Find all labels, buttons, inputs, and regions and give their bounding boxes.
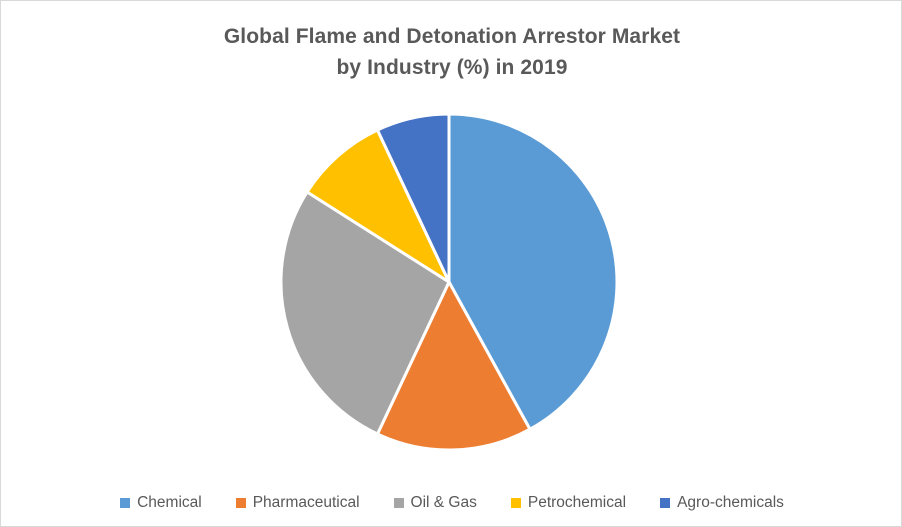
pie-chart-plot-area [1,1,902,471]
legend-item-petrochemical[interactable]: Petrochemical [511,494,626,512]
legend-swatch-oil-gas [394,498,404,508]
pie-chart-svg [1,1,902,471]
legend-label-chemical: Chemical [137,494,202,512]
legend-item-agro-chemicals[interactable]: Agro-chemicals [660,494,784,512]
legend-label-pharmaceutical: Pharmaceutical [253,494,360,512]
legend-swatch-agro-chemicals [660,498,670,508]
chart-container: Global Flame and Detonation Arrestor Mar… [0,0,902,527]
legend-item-pharmaceutical[interactable]: Pharmaceutical [236,494,360,512]
pie-slice-group [281,114,617,450]
legend-label-agro-chemicals: Agro-chemicals [677,494,784,512]
legend-label-petrochemical: Petrochemical [528,494,626,512]
chart-legend: ChemicalPharmaceuticalOil & GasPetrochem… [1,494,902,512]
legend-label-oil-gas: Oil & Gas [411,494,477,512]
legend-item-chemical[interactable]: Chemical [120,494,202,512]
legend-swatch-petrochemical [511,498,521,508]
legend-swatch-pharmaceutical [236,498,246,508]
legend-swatch-chemical [120,498,130,508]
legend-item-oil-gas[interactable]: Oil & Gas [394,494,477,512]
